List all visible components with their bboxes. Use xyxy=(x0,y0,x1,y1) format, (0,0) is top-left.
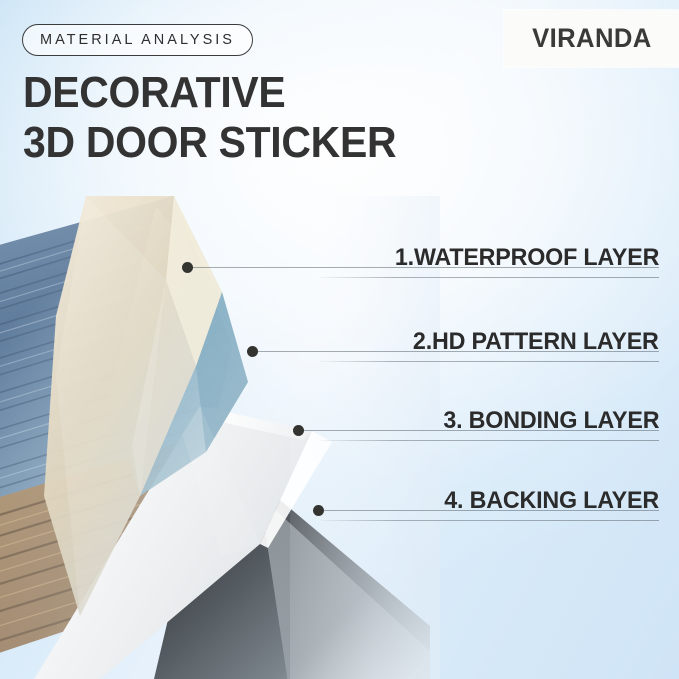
layer-label-1: 1.WATERPROOF LAYER xyxy=(395,244,659,272)
layer-underline-3 xyxy=(320,440,659,441)
badge-label: MATERIAL ANALYSIS xyxy=(40,32,235,48)
layer-marker-dot-1 xyxy=(182,262,193,273)
layer-callout-2: 2.HD PATTERN LAYER xyxy=(320,322,659,362)
layer-marker-dot-2 xyxy=(247,346,258,357)
layer-label-2: 2.HD PATTERN LAYER xyxy=(413,328,659,356)
brand-name: VIRANDA xyxy=(532,23,652,54)
material-analysis-badge: MATERIAL ANALYSIS xyxy=(22,24,253,56)
layer-callout-4: 4. BACKING LAYER xyxy=(320,481,659,521)
layer-underline-2 xyxy=(320,361,659,362)
infographic-canvas: MATERIAL ANALYSIS DECORATIVE 3D DOOR STI… xyxy=(0,0,679,679)
layer-callout-1: 1.WATERPROOF LAYER xyxy=(320,238,659,278)
title-line-2: 3D DOOR STICKER xyxy=(23,118,396,168)
layer-underline-1 xyxy=(320,277,659,278)
layer-label-4: 4. BACKING LAYER xyxy=(444,487,659,515)
brand-logo-box: VIRANDA xyxy=(504,10,679,67)
layer-underline-4 xyxy=(320,520,659,521)
layer-marker-dot-3 xyxy=(293,425,304,436)
page-title: DECORATIVE 3D DOOR STICKER xyxy=(23,68,396,168)
layer-label-3: 3. BONDING LAYER xyxy=(443,407,659,435)
layer-callout-3: 3. BONDING LAYER xyxy=(320,401,659,441)
title-line-1: DECORATIVE xyxy=(23,68,285,117)
